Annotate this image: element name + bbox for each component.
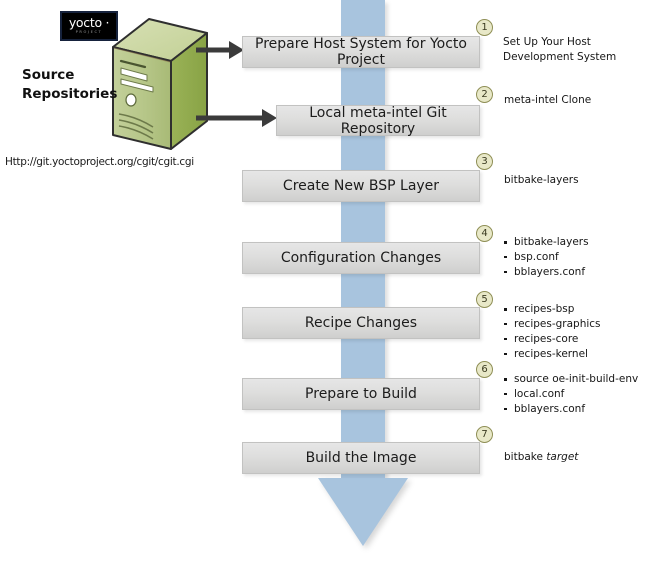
step-box-2[interactable]: Local meta-intel Git Repository (276, 105, 480, 136)
step-box-2-label: Local meta-intel Git Repository (277, 105, 479, 137)
step-number-1-text: 1 (481, 23, 487, 33)
step-annotation-1: Set Up Your Host Development System (503, 35, 616, 65)
step-box-5[interactable]: Recipe Changes (242, 307, 480, 339)
yocto-logo-subtext: PROJECT (76, 31, 103, 35)
source-label-line1: Source (22, 66, 118, 85)
step-annotation-3: bitbake-layers (504, 173, 579, 188)
step-number-7-text: 7 (481, 430, 487, 440)
step-number-6-text: 6 (481, 365, 487, 375)
annotation-line: Set Up Your Host (503, 35, 616, 50)
step-box-1[interactable]: Prepare Host System for Yocto Project (242, 36, 480, 68)
arrow-shaft (196, 48, 230, 53)
step-number-5-text: 5 (481, 295, 487, 305)
annotation-bullet: bitbake-layers (503, 235, 589, 250)
annotation-bullet: local.conf (503, 387, 638, 402)
diagram-canvas: yocto · PROJECT (0, 0, 654, 564)
annotation-line: bitbake target (504, 450, 578, 465)
connector-arrow-to-step-2 (196, 108, 278, 128)
step-box-4-label: Configuration Changes (281, 250, 441, 266)
step-number-badge-5: 5 (476, 291, 493, 308)
arrow-shaft (196, 116, 264, 121)
annotation-bullet: bsp.conf (503, 250, 589, 265)
step-number-2-text: 2 (481, 90, 487, 100)
step-number-badge-4: 4 (476, 225, 493, 242)
annotation-bullet: recipes-core (503, 332, 601, 347)
step-number-badge-7: 7 (476, 426, 493, 443)
step-box-3-label: Create New BSP Layer (283, 178, 439, 194)
arrow-head-icon (262, 109, 277, 127)
step-annotation-5: recipes-bsp recipes-graphics recipes-cor… (503, 302, 601, 362)
step-box-6[interactable]: Prepare to Build (242, 378, 480, 410)
step-number-badge-2: 2 (476, 86, 493, 103)
annotation-bullet: bblayers.conf (503, 402, 638, 417)
connector-arrow-to-step-1 (196, 40, 244, 60)
annotation-line: meta-intel Clone (504, 93, 591, 108)
step-annotation-4: bitbake-layers bsp.conf bblayers.conf (503, 235, 589, 280)
step-box-6-label: Prepare to Build (305, 386, 417, 402)
annotation-command: bitbake (504, 451, 546, 463)
step-number-badge-1: 1 (476, 19, 493, 36)
annotation-bullet: recipes-bsp (503, 302, 601, 317)
step-number-badge-6: 6 (476, 361, 493, 378)
flow-arrowhead-icon (318, 478, 408, 546)
step-box-4[interactable]: Configuration Changes (242, 242, 480, 274)
step-annotation-7: bitbake target (504, 450, 578, 465)
step-number-badge-3: 3 (476, 153, 493, 170)
step-box-3[interactable]: Create New BSP Layer (242, 170, 480, 202)
server-tower-icon (103, 15, 215, 155)
annotation-line: bitbake-layers (504, 173, 579, 188)
source-label-line2: Repositories (22, 85, 118, 104)
annotation-bullet: source oe-init-build-env (503, 372, 638, 387)
annotation-line: Development System (503, 50, 616, 65)
repository-url-text: Http://git.yoctoproject.org/cgit/cgit.cg… (5, 156, 194, 168)
step-annotation-6: source oe-init-build-env local.conf bbla… (503, 372, 638, 417)
annotation-bullet: bblayers.conf (503, 265, 589, 280)
source-repositories-label: Source Repositories (22, 66, 118, 104)
step-number-3-text: 3 (481, 157, 487, 167)
annotation-bullet: recipes-graphics (503, 317, 601, 332)
step-annotation-2: meta-intel Clone (504, 93, 591, 108)
step-number-4-text: 4 (481, 229, 487, 239)
annotation-command-arg: target (546, 451, 578, 463)
annotation-bullet: recipes-kernel (503, 347, 601, 362)
step-box-5-label: Recipe Changes (305, 315, 417, 331)
step-box-7-label: Build the Image (306, 450, 417, 466)
step-box-7[interactable]: Build the Image (242, 442, 480, 474)
step-box-1-label: Prepare Host System for Yocto Project (243, 36, 479, 68)
